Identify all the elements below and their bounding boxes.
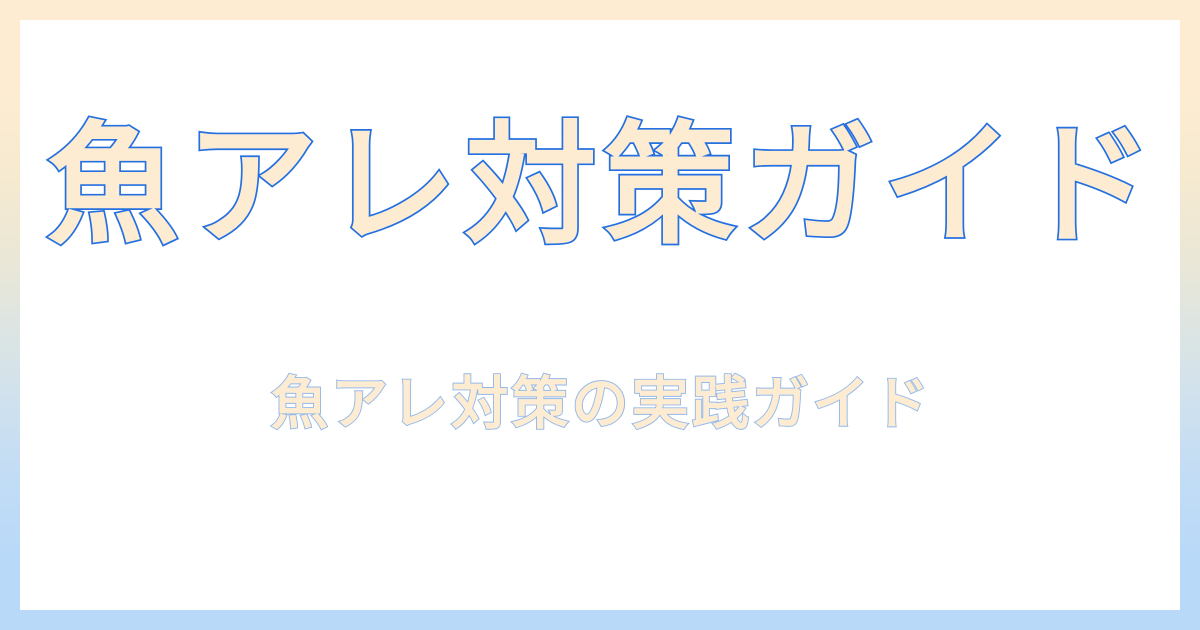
content-card: 魚アレ対策ガイド 魚アレ対策の実践ガイド bbox=[20, 20, 1180, 610]
page-title: 魚アレ対策ガイド bbox=[39, 113, 1160, 261]
og-image-canvas: 魚アレ対策ガイド 魚アレ対策の実践ガイド bbox=[0, 0, 1200, 630]
content-card-inner: 魚アレ対策ガイド 魚アレ対策の実践ガイド bbox=[20, 113, 1180, 440]
page-subtitle: 魚アレ対策の実践ガイド bbox=[268, 369, 933, 440]
